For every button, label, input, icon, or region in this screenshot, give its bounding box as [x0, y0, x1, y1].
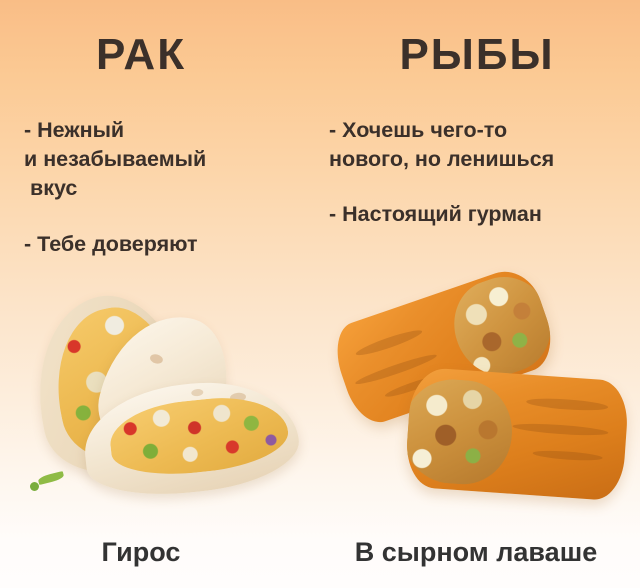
- trait-item: - Хочешь чего-то нового, но ленишься: [329, 116, 637, 174]
- shawarma-cut-face: [442, 265, 562, 387]
- pea-crumb: [30, 482, 39, 491]
- lettuce-crumb: [37, 471, 64, 485]
- sign-title-pisces: РЫБЫ: [320, 33, 640, 77]
- lavash-streak: [354, 327, 423, 359]
- trait-line: - Тебе доверяют: [24, 230, 314, 259]
- trait-item: - Нежный и незабываемый вкус: [24, 116, 314, 204]
- trait-line: вкус: [24, 174, 314, 203]
- trait-line: нового, но ленишься: [329, 145, 637, 174]
- lavash-streak: [526, 397, 608, 413]
- tortilla-blister: [149, 353, 164, 365]
- shawarma-half-lower: [404, 367, 630, 502]
- column-cancer: РАК - Нежный и незабываемый вкус - Тебе …: [0, 0, 320, 588]
- gyros-tacos-photo: [0, 288, 320, 513]
- lavash-streak: [512, 422, 608, 438]
- trait-item: - Настоящий гурман: [329, 200, 637, 229]
- food-caption-gyros: Гирос: [0, 539, 320, 566]
- shawarma-cut-face: [404, 376, 515, 487]
- traits-list-cancer: - Нежный и незабываемый вкус - Тебе дове…: [24, 116, 314, 285]
- comparison-poster: РАК - Нежный и незабываемый вкус - Тебе …: [0, 0, 640, 588]
- trait-line: и незабываемый: [24, 145, 314, 174]
- cheese-lavash-shawarma-photo: [320, 288, 640, 513]
- lavash-streak: [532, 449, 602, 462]
- trait-line: - Настоящий гурман: [329, 200, 637, 229]
- tortilla-blister: [191, 388, 204, 396]
- trait-item: - Тебе доверяют: [24, 230, 314, 259]
- sign-title-cancer: РАК: [0, 33, 320, 77]
- trait-line: - Хочешь чего-то: [329, 116, 637, 145]
- traits-list-pisces: - Хочешь чего-то нового, но ленишься - Н…: [329, 116, 637, 256]
- trait-line: - Нежный: [24, 116, 314, 145]
- food-caption-cheese-lavash: В сырном лаваше: [320, 539, 640, 566]
- column-pisces: РЫБЫ - Хочешь чего-то нового, но ленишьс…: [320, 0, 640, 588]
